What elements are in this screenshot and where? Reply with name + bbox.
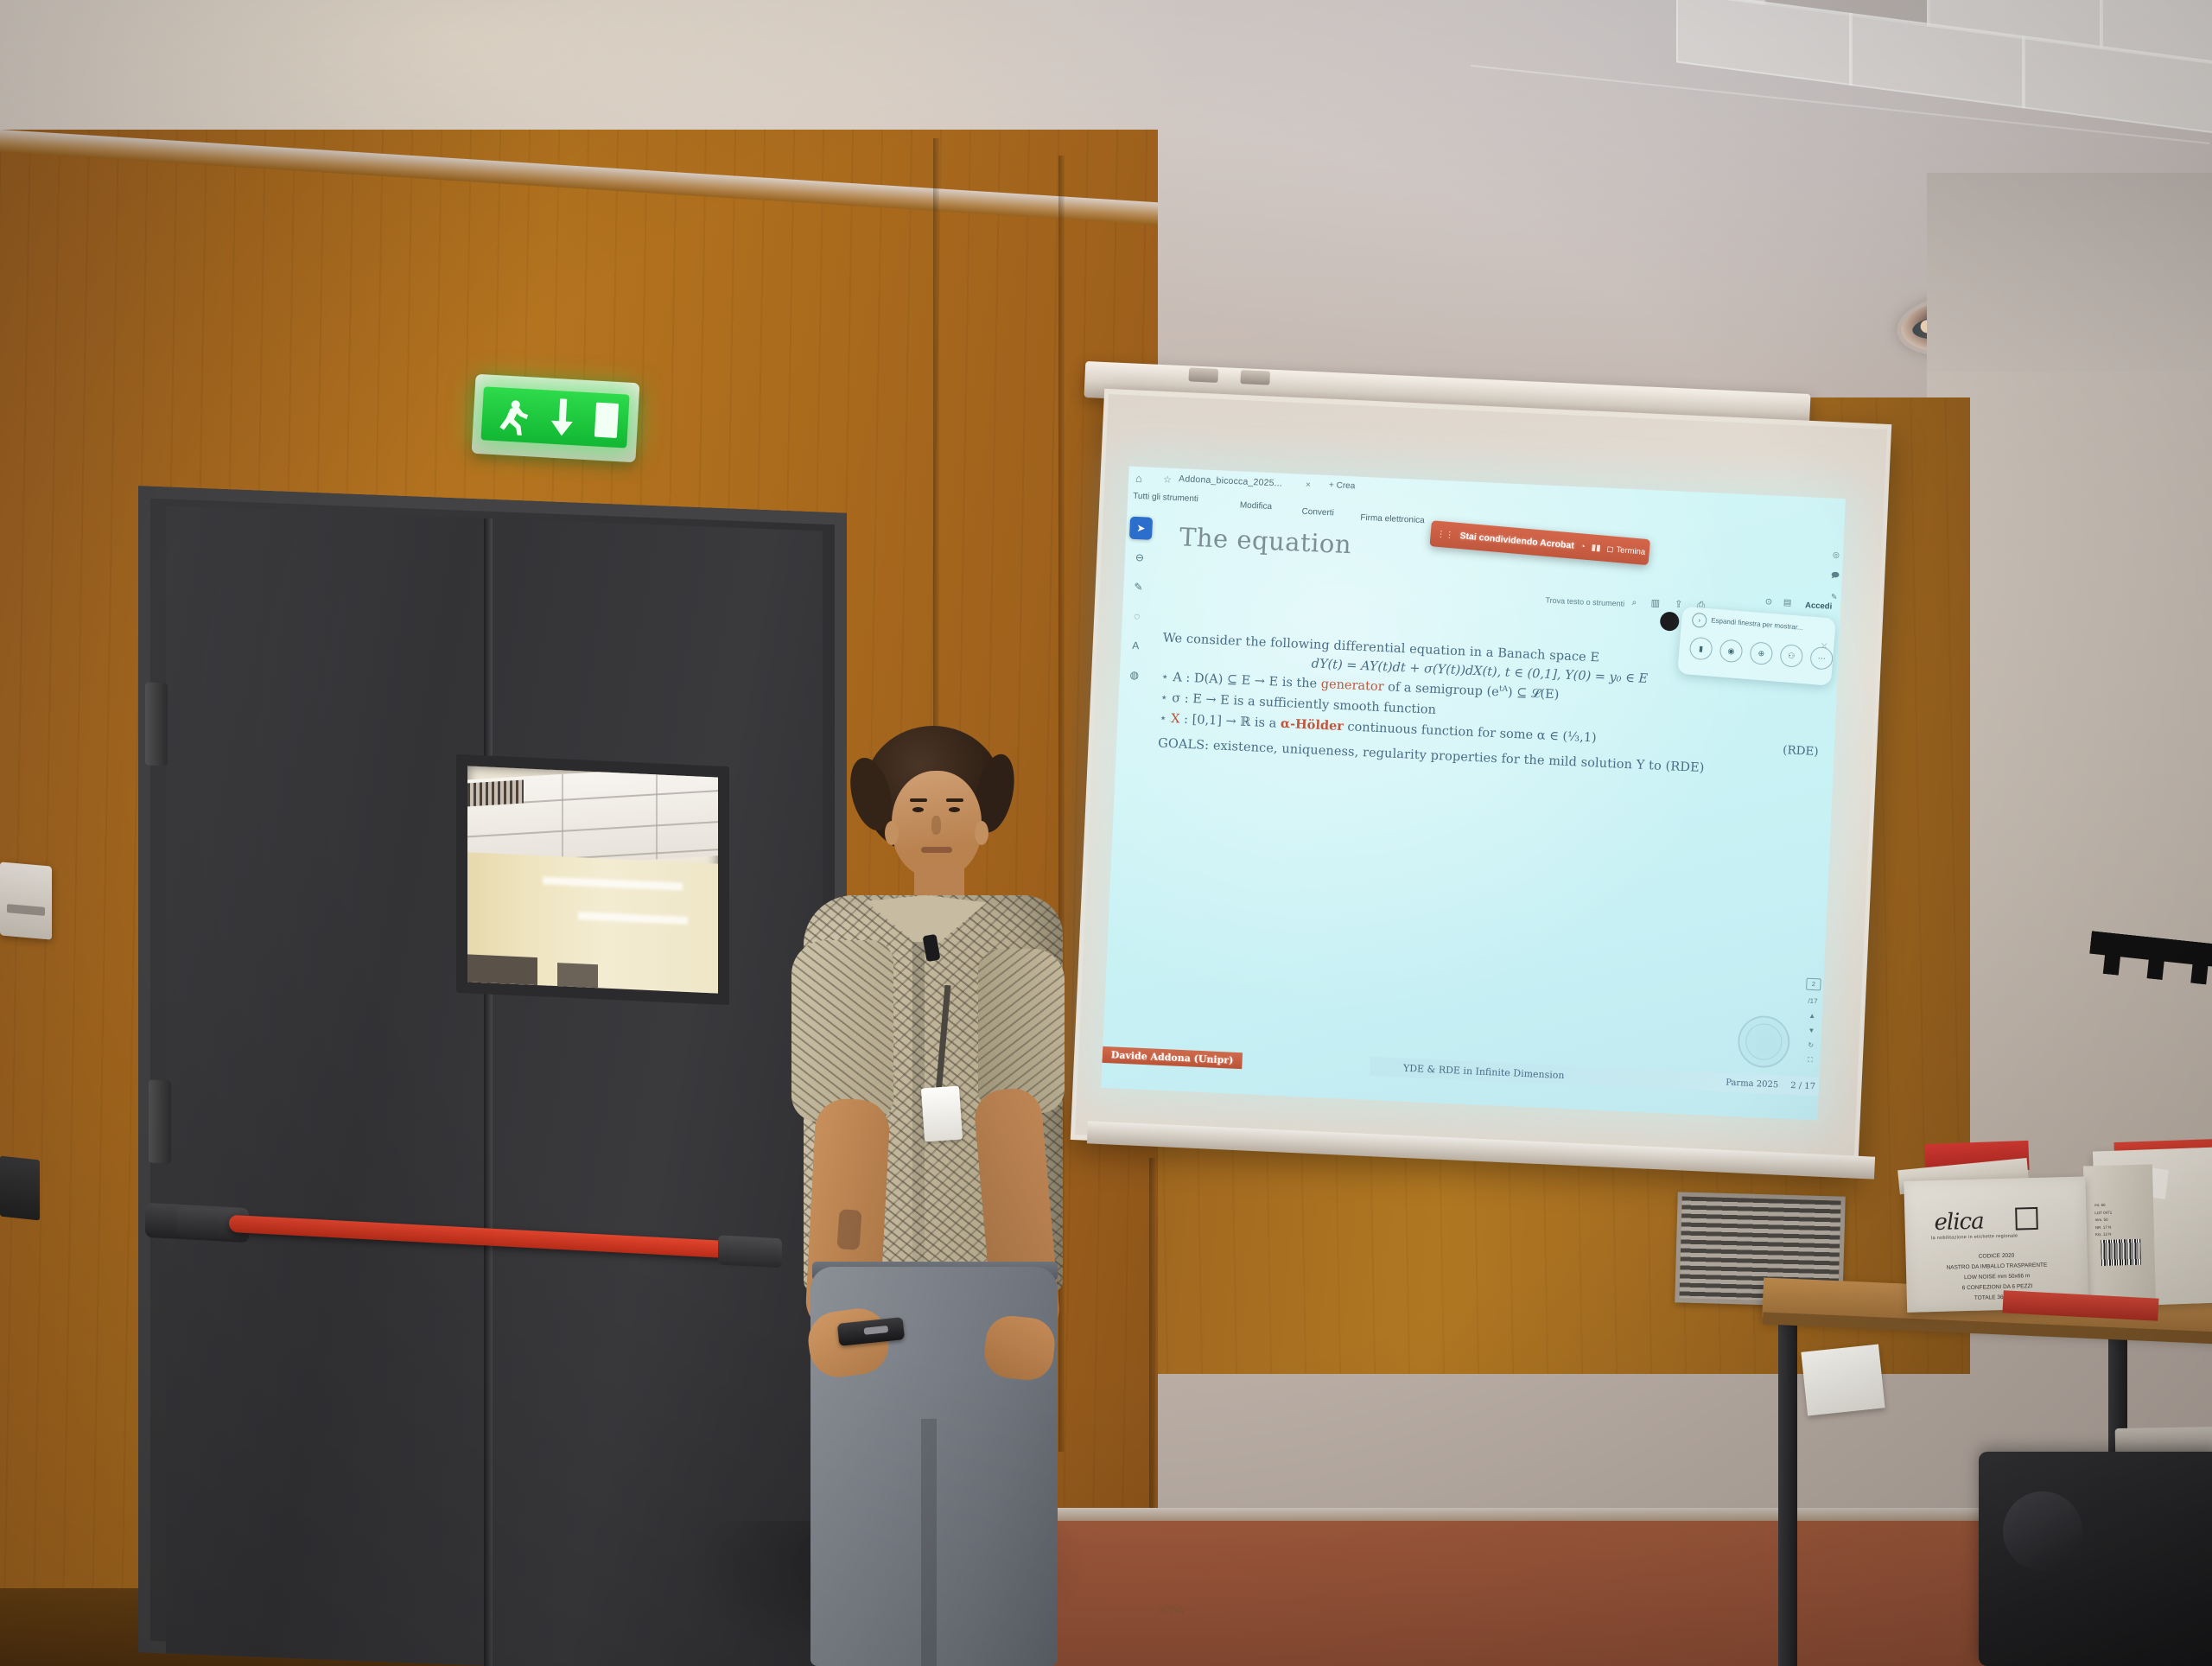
search-icon[interactable]: ⌕ [1631, 598, 1637, 607]
video-icon[interactable]: ◔ [1580, 542, 1586, 551]
chevron-right-icon[interactable]: › [1692, 613, 1707, 628]
slide-footer: Davide Addona (Unipr) YDE & RDE in Infin… [1102, 1045, 1819, 1097]
exit-sign-face [480, 386, 629, 448]
page-up-icon[interactable]: ▲ [1808, 1012, 1815, 1020]
face [892, 771, 982, 878]
comment-bubble-icon[interactable]: ◌ [1125, 605, 1148, 628]
door-hinge [145, 683, 168, 766]
more-icon[interactable]: ⋯ [1809, 646, 1834, 671]
footer-page: 2 / 17 [1790, 1081, 1819, 1091]
hand-right [982, 1313, 1057, 1383]
bullet-3-pre: : [0,1] → ℝ is a [1179, 713, 1281, 731]
bullet-1-pre: A : D(A) ⊆ E → E is the [1173, 671, 1321, 691]
bullet-3-highlight: α-Hölder [1281, 716, 1344, 734]
box-tagline: la nobilitazione in etichette regionale [1931, 1234, 2018, 1242]
exit-door-icon [594, 403, 619, 438]
wall-plate [0, 1156, 40, 1221]
projected-acrobat-window[interactable]: ⌂ ☆ Addona_bicocca_2025... × + Crea Tutt… [1101, 467, 1846, 1121]
stop-icon: ◻ [1606, 544, 1614, 554]
acrobat-tool-rail: ➤ ⊖ ✎ ◌ A ◍ [1122, 517, 1160, 694]
comment-icon[interactable]: 🗩 [1830, 569, 1840, 583]
table-leg [1778, 1322, 1797, 1666]
call-popup-text: Espandi finestra per mostrar... [1711, 616, 1803, 632]
menu-item-firma-elettronica[interactable]: Firma elettronica [1360, 513, 1425, 525]
sleeve-right [978, 949, 1065, 1113]
wall-scuff-mark: a0pA [1158, 1602, 1185, 1616]
corridor-furniture [467, 954, 537, 985]
thermostat[interactable] [0, 862, 52, 939]
create-button[interactable]: + Crea [1329, 480, 1356, 491]
share-status-label: Stai condividendo Acrobat [1459, 531, 1574, 551]
bullet-marker: ⋆ [1160, 690, 1168, 704]
bullet-1-post2: ) ⊆ 𝓛(E) [1508, 686, 1560, 703]
cardboard-box-elica: elica la nobilitazione in etichette regi… [1904, 1159, 2166, 1313]
box-logo-square [2015, 1207, 2038, 1230]
university-seal [1737, 1014, 1791, 1069]
bullet-marker: ⋆ [1160, 671, 1169, 684]
sleeve-left [791, 940, 893, 1122]
annotate-icon[interactable]: ✎ [1831, 593, 1838, 602]
menu-item-tutti-gli-strumenti[interactable]: Tutti gli strumenti [1133, 492, 1198, 504]
text-box-icon[interactable]: A [1124, 634, 1147, 658]
rotate-icon[interactable]: ↻ [1808, 1041, 1814, 1049]
paper-sheet [1801, 1344, 1885, 1415]
slide-title: The equation [1179, 522, 1352, 559]
acrobat-account-icons[interactable]: ⊙ ▤ [1765, 597, 1796, 608]
sign-in-button[interactable]: Accedi [1805, 601, 1833, 611]
page-total-label: /17 [1808, 997, 1818, 1005]
acrobat-page-controls: 2 /17 ▲ ▼ ↻ ⛶ [1802, 978, 1821, 1065]
close-icon[interactable]: × [1306, 480, 1311, 490]
door-hinge [149, 1080, 171, 1164]
settings-icon[interactable]: ◎ [1833, 550, 1840, 560]
star-icon[interactable]: ☆ [1163, 474, 1172, 485]
find-input[interactable]: Trova testo o strumenti [1545, 596, 1624, 608]
running-person-icon [492, 394, 531, 436]
name-badge [921, 1086, 963, 1142]
select-cursor-icon[interactable]: ➤ [1129, 517, 1153, 540]
footer-venue: Parma 2025 [1726, 1078, 1791, 1090]
box-spec-list: mt. 66 LOT 0471 mm. 50 NR. 17 N KG. 12 N [2094, 1202, 2113, 1239]
box-front-panel: elica la nobilitazione in etichette regi… [1904, 1176, 2088, 1312]
upper-wall-right [1927, 173, 2212, 380]
create-label: Crea [1336, 480, 1355, 491]
home-icon[interactable]: ⌂ [1135, 472, 1143, 485]
corridor-doorway [557, 963, 597, 989]
avatar [1659, 611, 1680, 632]
bullet-1-sup: tA [1499, 684, 1509, 693]
speaker [709, 726, 1054, 1666]
fit-page-icon[interactable]: ⛶ [1808, 1056, 1813, 1065]
end-share-label: Termina [1616, 544, 1646, 556]
bullet-1-post: of a semigroup (e [1383, 680, 1499, 699]
page-down-icon[interactable]: ▼ [1808, 1027, 1815, 1034]
footer-author: Davide Addona (Unipr) [1102, 1046, 1242, 1068]
pen-markup-icon[interactable]: ✎ [1127, 575, 1150, 599]
door-center-seam [484, 518, 493, 1666]
bullet-marker: ⋆ [1159, 711, 1167, 725]
emergency-exit-sign [472, 374, 640, 462]
document-tab[interactable]: Addona_bicocca_2025... [1179, 474, 1282, 488]
plus-icon: + [1329, 480, 1334, 490]
equipment-case [1979, 1452, 2212, 1666]
barcode [2101, 1239, 2141, 1266]
corridor-vent [456, 780, 524, 808]
page-number-input[interactable]: 2 [1806, 978, 1821, 991]
bullet-1-highlight: generator [1320, 677, 1384, 694]
pause-icon[interactable]: ▮▮ [1591, 543, 1601, 553]
acrobat-right-rail: ◎ 🗩 ✎ [1829, 550, 1840, 602]
menu-item-modifica[interactable]: Modifica [1240, 500, 1273, 512]
tattoo [836, 1209, 861, 1250]
down-arrow-icon [550, 398, 575, 437]
zoom-search-icon[interactable]: ⊖ [1128, 546, 1151, 569]
equation-tag: (RDE) [1783, 743, 1819, 759]
stamp-icon[interactable]: ◍ [1122, 663, 1146, 686]
menu-item-converti[interactable]: Converti [1301, 507, 1334, 518]
end-share-button[interactable]: ◻ Termina [1606, 544, 1645, 556]
drag-handle-icon[interactable]: ⋮⋮ [1436, 529, 1454, 540]
footer-title: YDE & RDE in Infinite Dimension [1242, 1055, 1726, 1088]
box-side-panel [2083, 1164, 2156, 1302]
box-brand-logo: elica [1934, 1209, 1984, 1236]
door-vision-panel [456, 754, 729, 1005]
lecture-room-photo: ⌂ ☆ Addona_bicocca_2025... × + Crea Tutt… [0, 0, 2212, 1666]
